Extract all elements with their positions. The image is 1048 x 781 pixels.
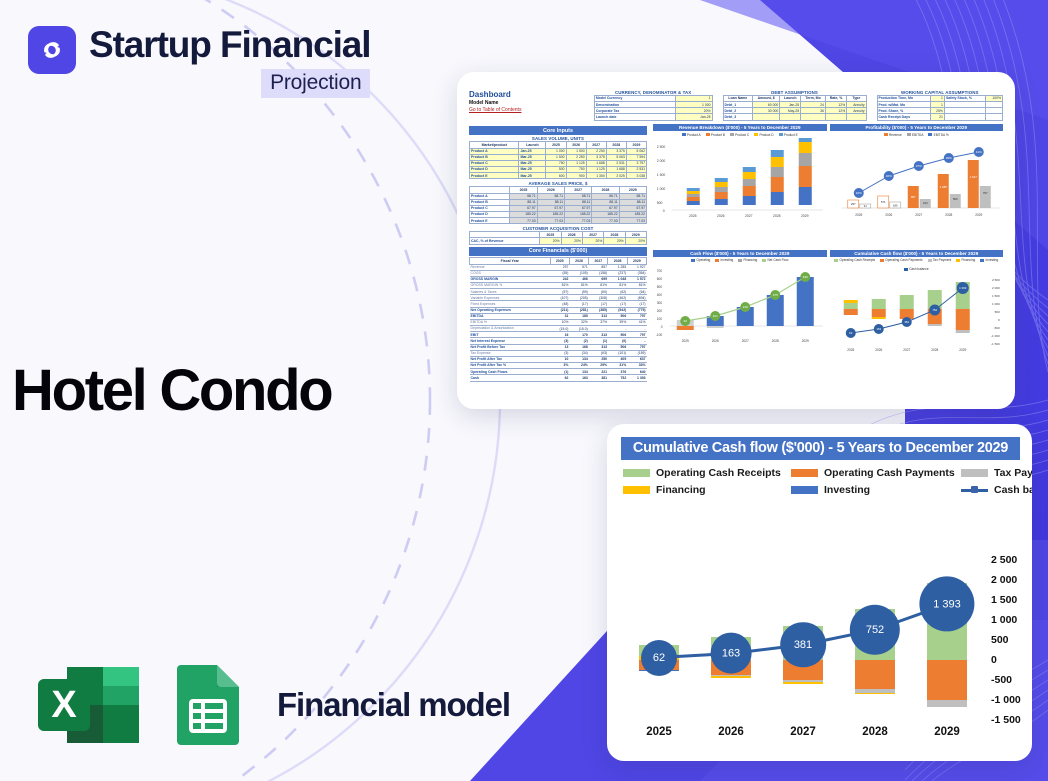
legend-label: EBITDA <box>912 133 924 137</box>
poster-stage: Startup Financial Projection Hotel Condo… <box>0 0 1048 781</box>
x-tick-label: 2025 <box>646 726 672 738</box>
legend-item: Product D <box>754 133 773 137</box>
legend-label: Operating <box>696 258 710 262</box>
mini-chart-title: Cash Flow ($'000) - 5 Years to December … <box>653 250 827 257</box>
legend-item: Product C <box>730 133 749 137</box>
x-tick-label: 2028 <box>862 726 888 738</box>
svg-text:375: 375 <box>773 293 778 297</box>
legend-label: Operating Cash Payments <box>885 258 922 262</box>
svg-text:0: 0 <box>661 325 663 329</box>
chart-title: Cumulative Cash flow ($'000) - 5 Years t… <box>621 437 1020 460</box>
svg-text:163: 163 <box>876 327 881 331</box>
svg-text:1 000: 1 000 <box>992 302 1000 306</box>
debt-table: Loan NameAmount, $LaunchTerm, MoRate, %T… <box>723 95 867 121</box>
cell: 77.03 <box>619 218 646 224</box>
y-tick-label: -1 000 <box>991 694 1021 706</box>
svg-text:300: 300 <box>657 301 663 305</box>
svg-text:2027: 2027 <box>745 214 753 218</box>
table-row: Debt_3 <box>723 114 866 120</box>
page-title: Hotel Condo <box>12 357 331 424</box>
mini-chart-legend: Product AProduct BProduct CProduct DProd… <box>653 131 827 138</box>
legend-item: Product B <box>706 133 725 137</box>
brand-lockup: Startup Financial Projection <box>28 26 370 98</box>
cumulative-cashflow-card[interactable]: Cumulative Cash flow ($'000) - 5 Years t… <box>607 424 1032 761</box>
legend-label: Tax Payment <box>994 467 1032 479</box>
dashboard-toc-link[interactable]: Go to Table of Contents <box>469 107 584 113</box>
legend-item: Tax Payment <box>928 258 952 262</box>
cell: 3 038 <box>626 173 646 179</box>
cell: Product E <box>470 218 510 224</box>
cell-value: 20% <box>561 238 582 244</box>
svg-text:62: 62 <box>849 331 853 335</box>
svg-text:500: 500 <box>657 285 663 289</box>
svg-text:600: 600 <box>657 277 663 281</box>
mini-chart-revenue-breakdown[interactable]: Revenue Breakdown ($'000) - 5 Years to D… <box>653 124 827 247</box>
svg-text:2 500: 2 500 <box>992 278 1000 282</box>
legend-item: Revenue <box>884 133 902 137</box>
cell-label: Cash Receipt Days <box>877 114 930 120</box>
svg-text:-1 000: -1 000 <box>990 334 999 338</box>
x-tick-label: 2029 <box>934 726 960 738</box>
cell: Debt_3 <box>723 114 753 120</box>
svg-text:185: 185 <box>892 204 897 208</box>
svg-text:313: 313 <box>922 201 927 205</box>
cash-balance-node: 163 <box>711 633 752 674</box>
table-row: Cash Receipt Days21 <box>877 114 1002 120</box>
svg-text:-100: -100 <box>656 333 663 337</box>
cell: 900 <box>566 173 586 179</box>
mini-revenue-plot: 2 5002 0001 500 1 0005000 <box>653 138 827 220</box>
legend-label: Product E <box>784 133 798 137</box>
legend-swatch <box>691 259 695 262</box>
svg-text:2025: 2025 <box>689 214 697 218</box>
legend-swatch <box>880 259 884 262</box>
legend-item: Product A <box>682 133 701 137</box>
mini-cumulative-plot: 2 5002 0001 500 1 0005000 -500-1 000-1 5… <box>830 273 1004 355</box>
y-tick-label: 1 500 <box>991 594 1017 606</box>
y-tick-label: -1 500 <box>991 714 1021 726</box>
legend-label: Net Cash Flow <box>767 258 788 262</box>
svg-text:2025: 2025 <box>855 213 862 217</box>
svg-text:1 500: 1 500 <box>992 294 1000 298</box>
svg-text:39%: 39% <box>945 156 951 160</box>
dashboard-title: Dashboard <box>469 90 584 99</box>
svg-text:857: 857 <box>910 195 915 199</box>
svg-text:2027: 2027 <box>742 339 749 343</box>
svg-text:-1 500: -1 500 <box>990 342 999 346</box>
legend-item: EBITDA <box>907 133 924 137</box>
cell: Cash <box>470 375 551 381</box>
cell: 77.03 <box>564 218 591 224</box>
chart-legend: Operating Cash ReceiptsOperating Cash Pa… <box>623 467 1018 496</box>
legend-label: Product C <box>735 133 749 137</box>
legend-label: Product D <box>759 133 773 137</box>
svg-text:400: 400 <box>657 293 663 297</box>
cell: 1 350 <box>586 173 606 179</box>
working-capital-table: Production Time, Mo1Safety Stock, %100%P… <box>877 95 1003 121</box>
legend-swatch <box>980 259 984 262</box>
legend-swatch <box>730 133 734 136</box>
svg-text:37%: 37% <box>915 164 921 168</box>
cell <box>780 114 801 120</box>
legend-swatch <box>779 133 783 136</box>
svg-text:2028: 2028 <box>931 348 938 352</box>
legend-label: Financing <box>743 258 757 262</box>
legend-item: Financing <box>623 484 791 496</box>
legend-label: Revenue <box>889 133 902 137</box>
legend-swatch <box>762 259 766 262</box>
legend-label: Product B <box>711 133 725 137</box>
legend-swatch <box>928 259 932 262</box>
svg-text:2025: 2025 <box>682 339 689 343</box>
legend-label: Financing <box>656 484 706 496</box>
svg-text:752: 752 <box>932 308 937 312</box>
chart-x-axis: 20252026202720282029 <box>623 726 983 748</box>
svg-text:10%: 10% <box>855 191 861 195</box>
mini-chart-cumulative-cash-flow[interactable]: Cumulative Cash flow ($'000) - 5 Years t… <box>830 250 1004 382</box>
cell <box>847 114 866 120</box>
cell-value: Jan-25 <box>675 114 712 120</box>
svg-text:1 000: 1 000 <box>657 187 666 191</box>
svg-text:1 393: 1 393 <box>959 286 967 290</box>
svg-text:500: 500 <box>657 201 663 205</box>
legend-swatch <box>904 268 908 271</box>
svg-text:31: 31 <box>863 204 867 208</box>
legend-swatch <box>961 469 988 477</box>
cell-value2 <box>986 114 1003 120</box>
cash-balance-node: 62 <box>641 640 677 676</box>
legend-item: Investing <box>791 484 961 496</box>
legend-label: Operating Cash Receipts <box>656 467 781 479</box>
google-sheets-icon <box>169 661 247 749</box>
y-tick-label: 0 <box>991 654 997 666</box>
legend-label: Cash balance <box>909 267 929 271</box>
svg-text:2029: 2029 <box>959 348 966 352</box>
svg-text:1 500: 1 500 <box>657 173 666 177</box>
legend-item: Investing <box>715 258 733 262</box>
sales-volume-table: Market/productLaunch20252026202720282029… <box>469 141 647 179</box>
mini-profitability-plot: 10%32%37% 39%41% 29731 571185 857313 1 2… <box>830 138 1004 220</box>
svg-text:200: 200 <box>657 309 663 313</box>
brand-badge: Projection <box>261 69 370 98</box>
svg-text:2028: 2028 <box>773 214 781 218</box>
mini-chart-legend: Operating Cash ReceiptsOperating Cash Pa… <box>830 257 1004 273</box>
svg-text:2 500: 2 500 <box>657 145 666 149</box>
dashboard-model-name: Model Name <box>469 100 584 106</box>
cell-value: 20% <box>540 238 561 244</box>
legend-swatch <box>706 133 710 136</box>
svg-text:571: 571 <box>880 200 885 204</box>
table-row: Cash621633817521 393 <box>470 375 647 381</box>
cell: 62 <box>550 375 569 381</box>
svg-text:X: X <box>51 684 77 726</box>
legend-swatch <box>928 133 932 136</box>
x-tick-label: 2026 <box>718 726 744 738</box>
svg-text:2028: 2028 <box>772 339 779 343</box>
legend-label: Investing <box>824 484 870 496</box>
mini-chart-legend: OperatingInvestingFinancingNet Cash Flow <box>653 257 827 264</box>
legend-item: Investing <box>980 258 998 262</box>
legend-swatch <box>791 486 818 494</box>
legend-item: Cash balance <box>904 267 929 271</box>
core-financials-header: Core Financials ($'000) <box>469 247 647 256</box>
legend-item: Net Cash Flow <box>762 258 788 262</box>
legend-label: Investing <box>985 258 998 262</box>
currency-table: Model Currency1Denomination1 000Corporat… <box>594 95 713 121</box>
svg-text:2026: 2026 <box>875 348 882 352</box>
infinity-e-logo-icon <box>28 26 76 74</box>
svg-text:2028: 2028 <box>945 213 952 217</box>
svg-text:2029: 2029 <box>802 339 809 343</box>
cell: 77.03 <box>592 218 619 224</box>
legend-label: Cash balance <box>994 484 1032 496</box>
svg-text:2026: 2026 <box>885 213 892 217</box>
cell-value: 21 <box>931 114 945 120</box>
legend-label: Financing <box>961 258 975 262</box>
mini-chart-title: Profitability ($'000) - 5 Years to Decem… <box>830 124 1004 131</box>
legend-label: Investing <box>721 258 734 262</box>
mini-cashflow-plot: 700600500 400300200 1000-100 <box>653 264 827 346</box>
y-tick-label: 2 000 <box>991 574 1017 586</box>
svg-text:297: 297 <box>850 202 855 206</box>
cell: 2 025 <box>606 173 626 179</box>
legend-item: Operating Cash Payments <box>880 258 923 262</box>
svg-text:2 000: 2 000 <box>992 286 1000 290</box>
legend-label: Product A <box>687 133 701 137</box>
svg-text:2029: 2029 <box>975 213 982 217</box>
y-tick-label: 1 000 <box>991 614 1017 626</box>
microsoft-excel-icon: X <box>30 661 147 749</box>
legend-swatch <box>956 259 960 262</box>
svg-text:640: 640 <box>803 275 808 279</box>
svg-text:1 285: 1 285 <box>939 185 947 189</box>
mini-chart-cash-flow[interactable]: Cash Flow ($'000) - 5 Years to December … <box>653 250 827 382</box>
legend-item: Financing <box>956 258 975 262</box>
svg-text:62: 62 <box>684 319 688 323</box>
legend-swatch <box>834 259 838 262</box>
legend-item: EBITDA % <box>928 133 948 137</box>
svg-text:0: 0 <box>998 318 1000 322</box>
legend-item: Operating Cash Receipts <box>623 467 791 479</box>
svg-text:32%: 32% <box>885 174 891 178</box>
cell-label: CAC, % of Revenue <box>470 238 540 244</box>
cell: 77.03 <box>510 218 537 224</box>
x-tick-label: 2027 <box>790 726 816 738</box>
dashboard-sheet: Dashboard Model Name Go to Table of Cont… <box>457 72 1015 409</box>
svg-text:1 927: 1 927 <box>969 175 977 179</box>
legend-swatch <box>961 489 988 492</box>
cell: 1 393 <box>627 375 646 381</box>
table-row: Product E77.0377.0377.0377.0377.03 <box>470 218 647 224</box>
mini-chart-legend: RevenueEBITDAEBITDA % <box>830 131 1004 138</box>
avg-price-table: 20252026202720282029Product A58.7158.715… <box>469 186 647 224</box>
svg-text:2027: 2027 <box>903 348 910 352</box>
table-row: Product EMar-256009001 3502 0253 038 <box>470 173 647 179</box>
legend-item: Product E <box>779 133 798 137</box>
legend-label: Tax Payment <box>933 258 951 262</box>
legend-item: Financing <box>738 258 757 262</box>
legend-swatch <box>623 469 650 477</box>
cash-balance-node: 381 <box>780 622 826 668</box>
cell-label2 <box>944 114 985 120</box>
mini-chart-title: Cumulative Cash flow ($'000) - 5 Years t… <box>830 250 1004 257</box>
legend-swatch <box>623 486 650 494</box>
cell: 163 <box>569 375 588 381</box>
legend-swatch <box>754 133 758 136</box>
legend-item: Cash balance <box>961 484 1032 496</box>
format-badges: X Financial model <box>30 661 510 749</box>
svg-text:100: 100 <box>657 317 663 321</box>
legend-swatch <box>791 469 818 477</box>
svg-text:-500: -500 <box>993 326 999 330</box>
cell <box>825 114 846 120</box>
cell-value: 20% <box>625 238 646 244</box>
cac-table: 20252026202720282029CAC, % of Revenue20%… <box>469 231 647 244</box>
table-row: CAC, % of Revenue20%20%20%20%20% <box>470 238 647 244</box>
svg-text:2026: 2026 <box>717 214 725 218</box>
format-label: Financial model <box>277 686 510 724</box>
y-tick-label: -500 <box>991 674 1012 686</box>
svg-text:381: 381 <box>904 320 909 324</box>
cell-value: 20% <box>604 238 625 244</box>
svg-text:2025: 2025 <box>847 348 854 352</box>
mini-chart-profitability[interactable]: Profitability ($'000) - 5 Years to Decem… <box>830 124 1004 247</box>
svg-text:700: 700 <box>657 269 663 273</box>
legend-item: Operating <box>691 258 710 262</box>
core-financials-table: Fiscal Year20252026202720282029Revenue29… <box>469 257 647 381</box>
legend-label: EBITDA % <box>934 133 949 137</box>
dashboard-screenshot-card[interactable]: Dashboard Model Name Go to Table of Cont… <box>457 72 1015 409</box>
dashboard-header-row: Dashboard Model Name Go to Table of Cont… <box>469 90 1003 121</box>
chart-plot-area: 621633817521 393 <box>623 560 983 720</box>
legend-swatch <box>715 259 719 262</box>
mini-chart-title: Revenue Breakdown ($'000) - 5 Years to D… <box>653 124 827 131</box>
cell: 381 <box>589 375 608 381</box>
cell: 77.03 <box>537 218 564 224</box>
cell <box>753 114 780 120</box>
cell: 752 <box>608 375 627 381</box>
svg-text:41%: 41% <box>975 150 981 154</box>
svg-text:0: 0 <box>663 209 665 213</box>
y-tick-label: 500 <box>991 634 1009 646</box>
legend-swatch <box>884 133 888 136</box>
table-row: Launch dateJan-25 <box>594 114 712 120</box>
legend-label: Operating Cash Receipts <box>839 258 875 262</box>
svg-text:2029: 2029 <box>801 214 809 218</box>
cell: 600 <box>546 173 566 179</box>
legend-swatch <box>738 259 742 262</box>
svg-text:2 000: 2 000 <box>657 159 666 163</box>
y-tick-label: 2 500 <box>991 554 1017 566</box>
svg-text:2027: 2027 <box>915 213 922 217</box>
cell: Mar-25 <box>519 173 546 179</box>
cell-label: Launch date <box>594 114 675 120</box>
cell: Product E <box>470 173 519 179</box>
svg-text:506: 506 <box>952 197 957 201</box>
legend-swatch <box>682 133 686 136</box>
svg-text:797: 797 <box>982 191 987 195</box>
legend-label: Operating Cash Payments <box>824 467 955 479</box>
svg-text:218: 218 <box>743 305 748 309</box>
chart-y-axis: 2 5002 0001 5001 0005000-500-1 000-1 500 <box>991 544 1032 740</box>
legend-swatch <box>907 133 911 136</box>
svg-text:2026: 2026 <box>712 339 719 343</box>
cash-balance-node: 1 393 <box>919 577 974 632</box>
core-inputs-header: Core Inputs <box>469 126 647 135</box>
svg-text:500: 500 <box>994 310 999 314</box>
cell <box>801 114 826 120</box>
legend-item: Tax Payment <box>961 467 1032 479</box>
brand-title: Startup Financial <box>89 26 370 65</box>
svg-text:101: 101 <box>713 314 718 318</box>
legend-item: Operating Cash Receipts <box>834 258 875 262</box>
cell-value: 20% <box>582 238 603 244</box>
legend-item: Operating Cash Payments <box>791 467 961 479</box>
